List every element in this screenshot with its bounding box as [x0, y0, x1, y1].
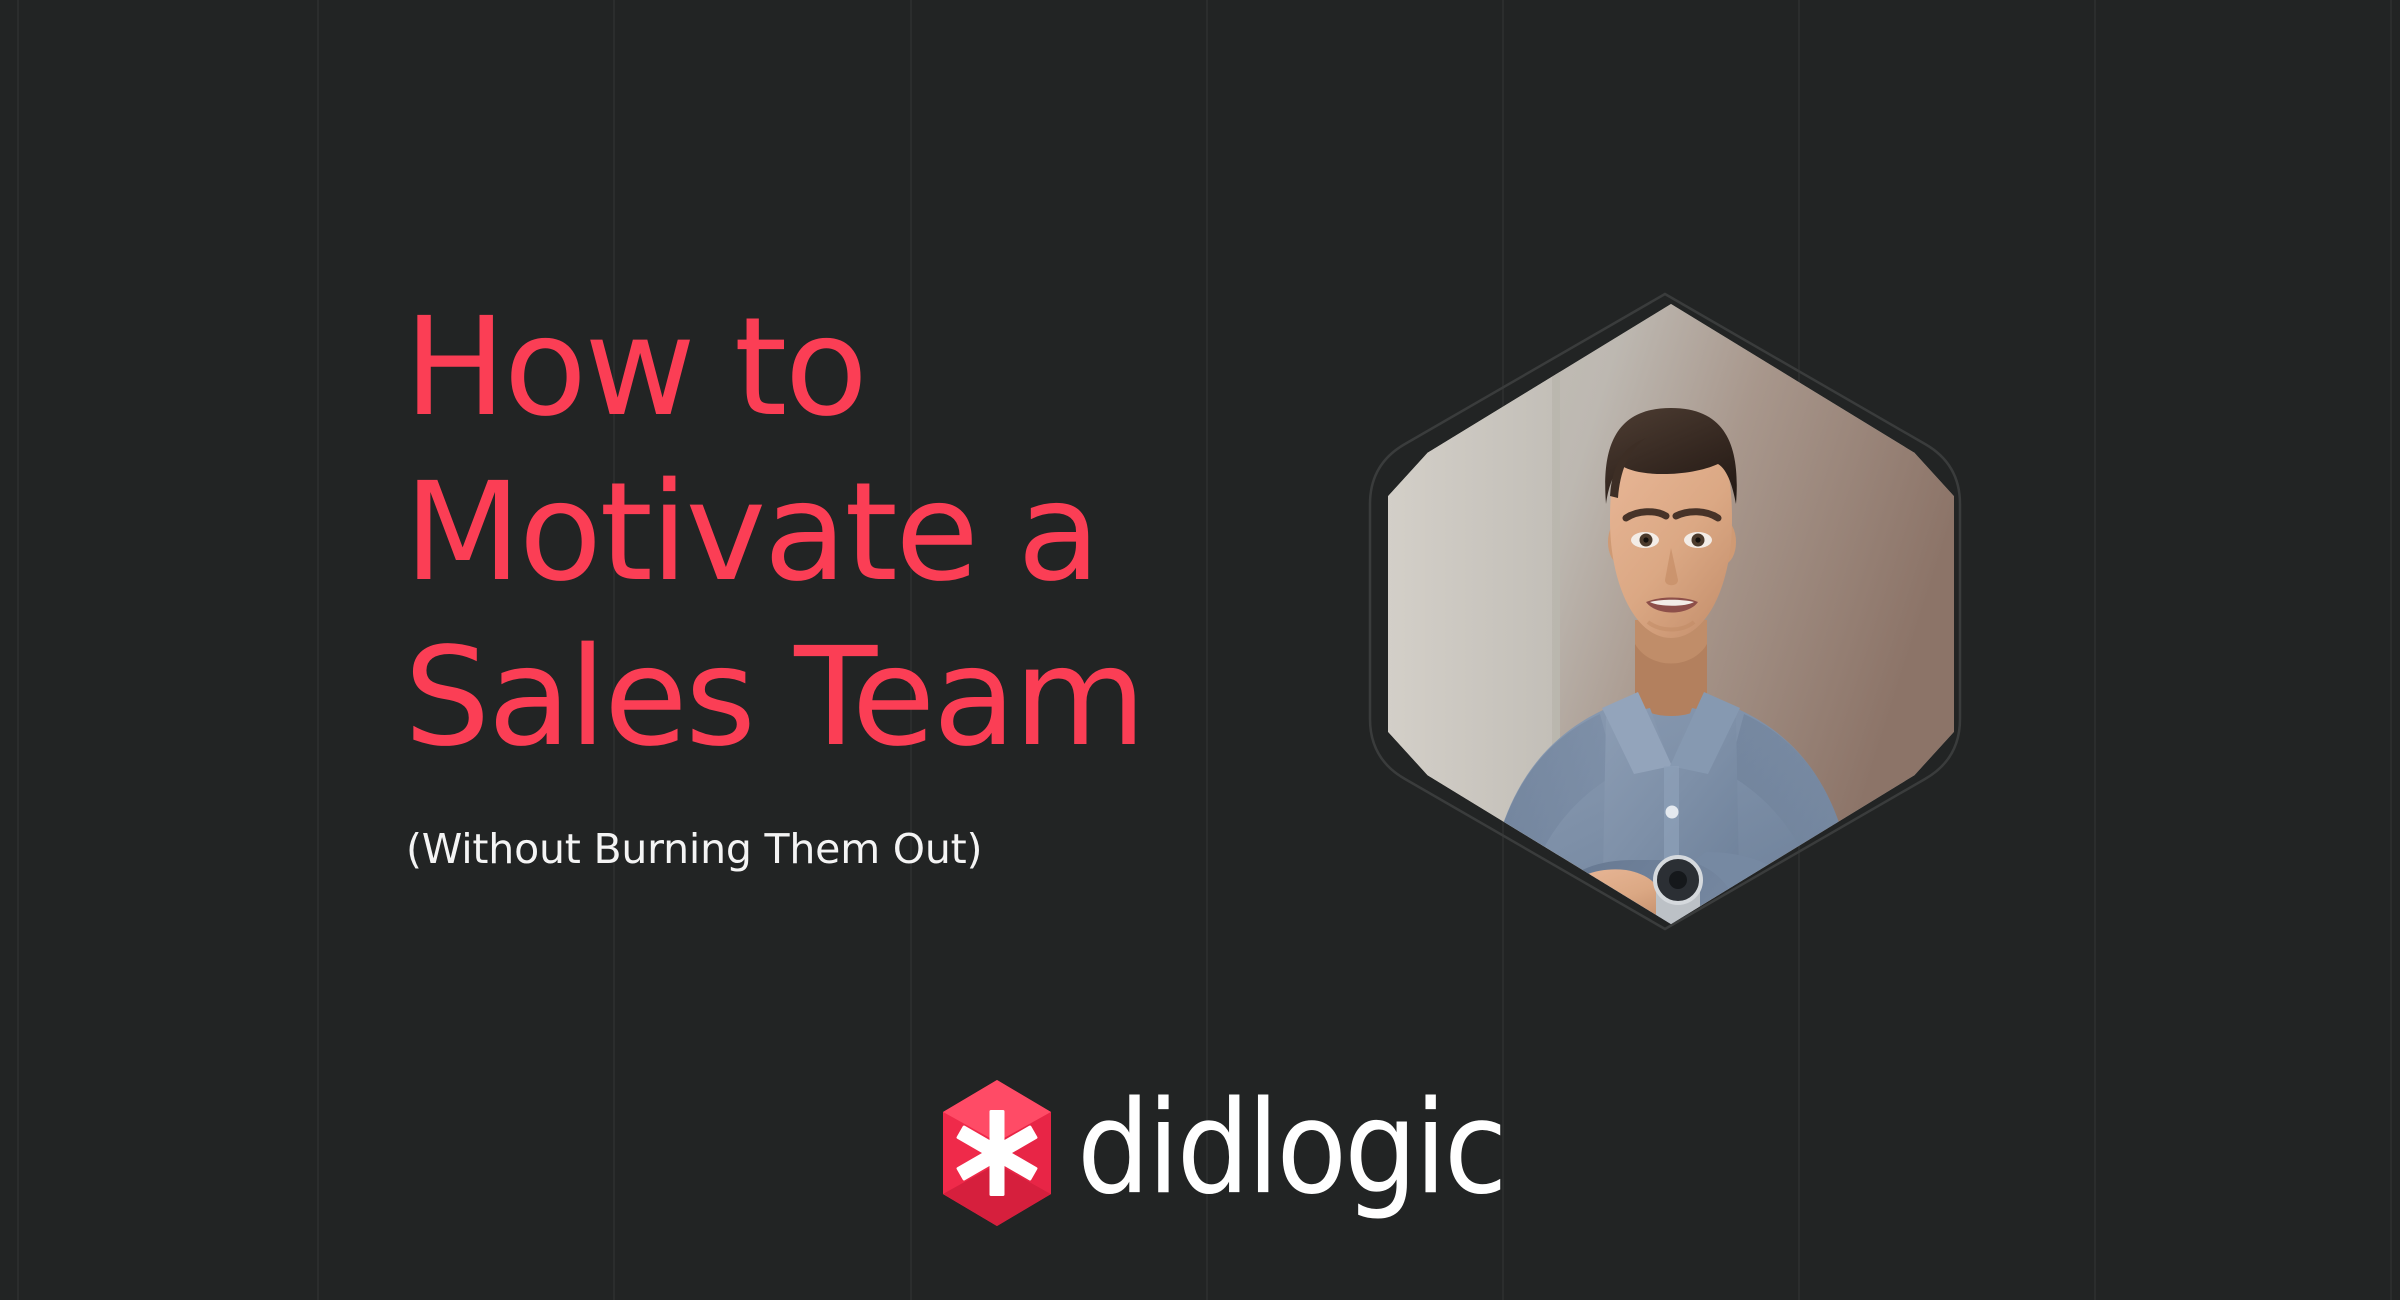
grid-line — [17, 0, 19, 1300]
brand-logo[interactable]: didlogic — [943, 1080, 1552, 1226]
copy-block: How to Motivate a Sales Team (Without Bu… — [404, 286, 1344, 875]
grid-line — [2094, 0, 2096, 1300]
page-subtitle: (Without Burning Them Out) — [404, 781, 1344, 875]
portrait-block — [1346, 262, 1986, 962]
promo-banner: How to Motivate a Sales Team (Without Bu… — [0, 0, 2400, 1300]
grid-line — [317, 0, 319, 1300]
brand-wordmark: didlogic — [1077, 1085, 1505, 1213]
page-title: How to Motivate a Sales Team — [404, 286, 1344, 781]
grid-line — [2390, 0, 2392, 1300]
hexagon-asterisk-icon — [943, 1080, 1051, 1226]
